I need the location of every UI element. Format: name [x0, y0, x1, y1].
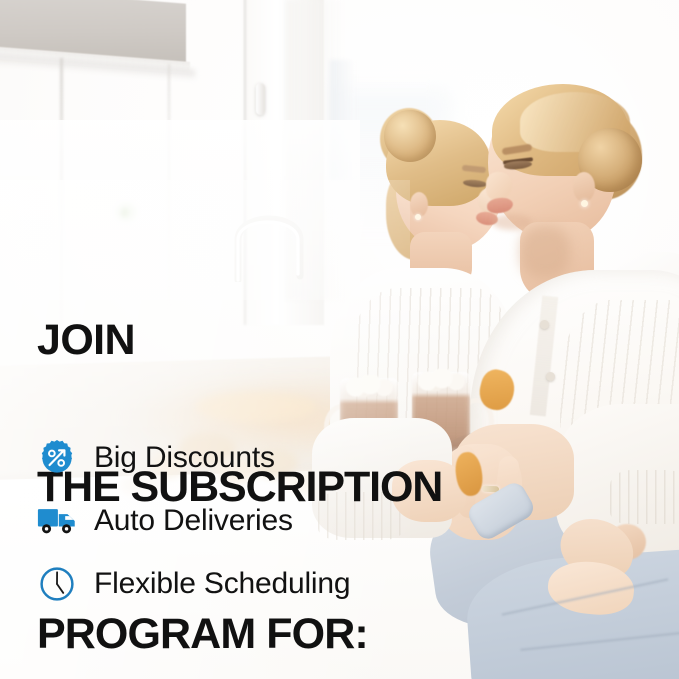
benefit-label-discounts: Big Discounts: [94, 441, 275, 475]
mother-sleeve-cuff: [610, 470, 679, 524]
mother-earring: [581, 200, 588, 207]
delivery-truck-icon: [37, 501, 77, 541]
benefit-label-deliveries: Auto Deliveries: [94, 504, 293, 538]
benefit-item-scheduling: Flexible Scheduling: [37, 556, 467, 612]
percent-badge-icon: [37, 438, 77, 478]
kitchen-door-handle: [256, 83, 265, 115]
blouse-button: [546, 372, 555, 381]
mother-neck-shadow: [520, 226, 570, 278]
daughter-hair-bun: [384, 110, 436, 162]
benefit-item-deliveries: Auto Deliveries: [37, 493, 467, 549]
mother-ear: [573, 172, 595, 202]
benefits-list: Big Discounts Auto Deliveries: [37, 430, 467, 619]
headline-line-1: JOIN: [37, 316, 507, 365]
clock-icon: [37, 564, 77, 604]
promo-banner: JOIN THE SUBSCRIPTION PROGRAM FOR: Big D…: [0, 0, 679, 679]
benefit-label-scheduling: Flexible Scheduling: [94, 567, 350, 601]
benefit-item-discounts: Big Discounts: [37, 430, 467, 486]
blouse-button: [540, 320, 549, 329]
window-frame: [330, 60, 356, 180]
